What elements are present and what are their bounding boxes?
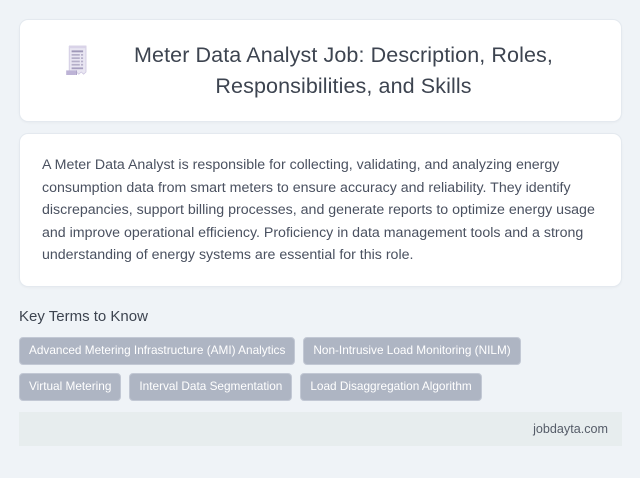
key-term-chip[interactable]: Virtual Metering [19,373,121,401]
site-watermark: jobdayta.com [533,422,608,436]
key-terms-row: Advanced Metering Infrastructure (AMI) A… [19,337,622,365]
key-terms-row: Virtual Metering Interval Data Segmentat… [19,373,622,401]
footer-bar: jobdayta.com [19,412,622,446]
page-title: Meter Data Analyst Job: Description, Rol… [109,40,579,102]
key-terms-heading: Key Terms to Know [19,308,622,326]
title-row: Meter Data Analyst Job: Description, Rol… [46,40,595,102]
description-text: A Meter Data Analyst is responsible for … [42,154,599,267]
key-term-chip[interactable]: Interval Data Segmentation [129,373,292,401]
key-term-chip[interactable]: Advanced Metering Infrastructure (AMI) A… [19,337,295,365]
description-card: A Meter Data Analyst is responsible for … [19,133,622,287]
receipt-icon [63,44,93,78]
key-term-chip[interactable]: Load Disaggregation Algorithm [300,373,481,401]
title-card: Meter Data Analyst Job: Description, Rol… [19,19,622,122]
page-root: Meter Data Analyst Job: Description, Rol… [0,0,640,478]
key-term-chip[interactable]: Non-Intrusive Load Monitoring (NILM) [303,337,520,365]
key-terms-section: Key Terms to Know Advanced Metering Infr… [19,308,622,401]
key-terms-chip-list: Advanced Metering Infrastructure (AMI) A… [19,337,622,401]
